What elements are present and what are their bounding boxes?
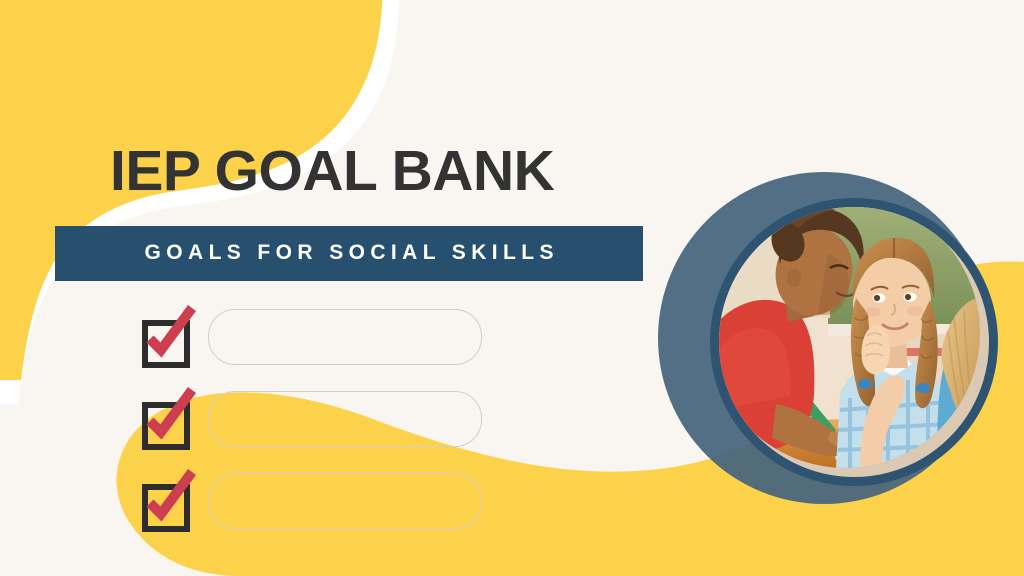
- checkbox-1[interactable]: [140, 306, 202, 368]
- student-photo: [710, 198, 980, 468]
- student-photo-frame: [710, 198, 998, 486]
- subtitle-text: GOALS FOR SOCIAL SKILLS: [139, 241, 559, 265]
- goal-field-3[interactable]: [208, 473, 482, 529]
- poster-canvas: IEP GOAL BANK GOALS FOR SOCIAL SKILLS: [0, 0, 1024, 576]
- headline-block: IEP GOAL BANK GOALS FOR SOCIAL SKILLS: [55, 142, 655, 281]
- checklist: [140, 310, 482, 528]
- check-icon: [140, 306, 202, 368]
- goal-field-1[interactable]: [208, 309, 482, 365]
- page-title: IEP GOAL BANK: [110, 142, 655, 202]
- checkbox-2[interactable]: [140, 388, 202, 450]
- student-photo-illustration: [710, 198, 980, 468]
- checklist-item-2[interactable]: [140, 392, 482, 446]
- subtitle-banner: GOALS FOR SOCIAL SKILLS: [55, 226, 643, 281]
- checkbox-3[interactable]: [140, 470, 202, 532]
- check-icon: [140, 470, 202, 532]
- check-icon: [140, 388, 202, 450]
- photo-cluster: [636, 150, 1024, 576]
- goal-field-2[interactable]: [208, 391, 482, 447]
- checklist-item-1[interactable]: [140, 310, 482, 364]
- checklist-item-3[interactable]: [140, 474, 482, 528]
